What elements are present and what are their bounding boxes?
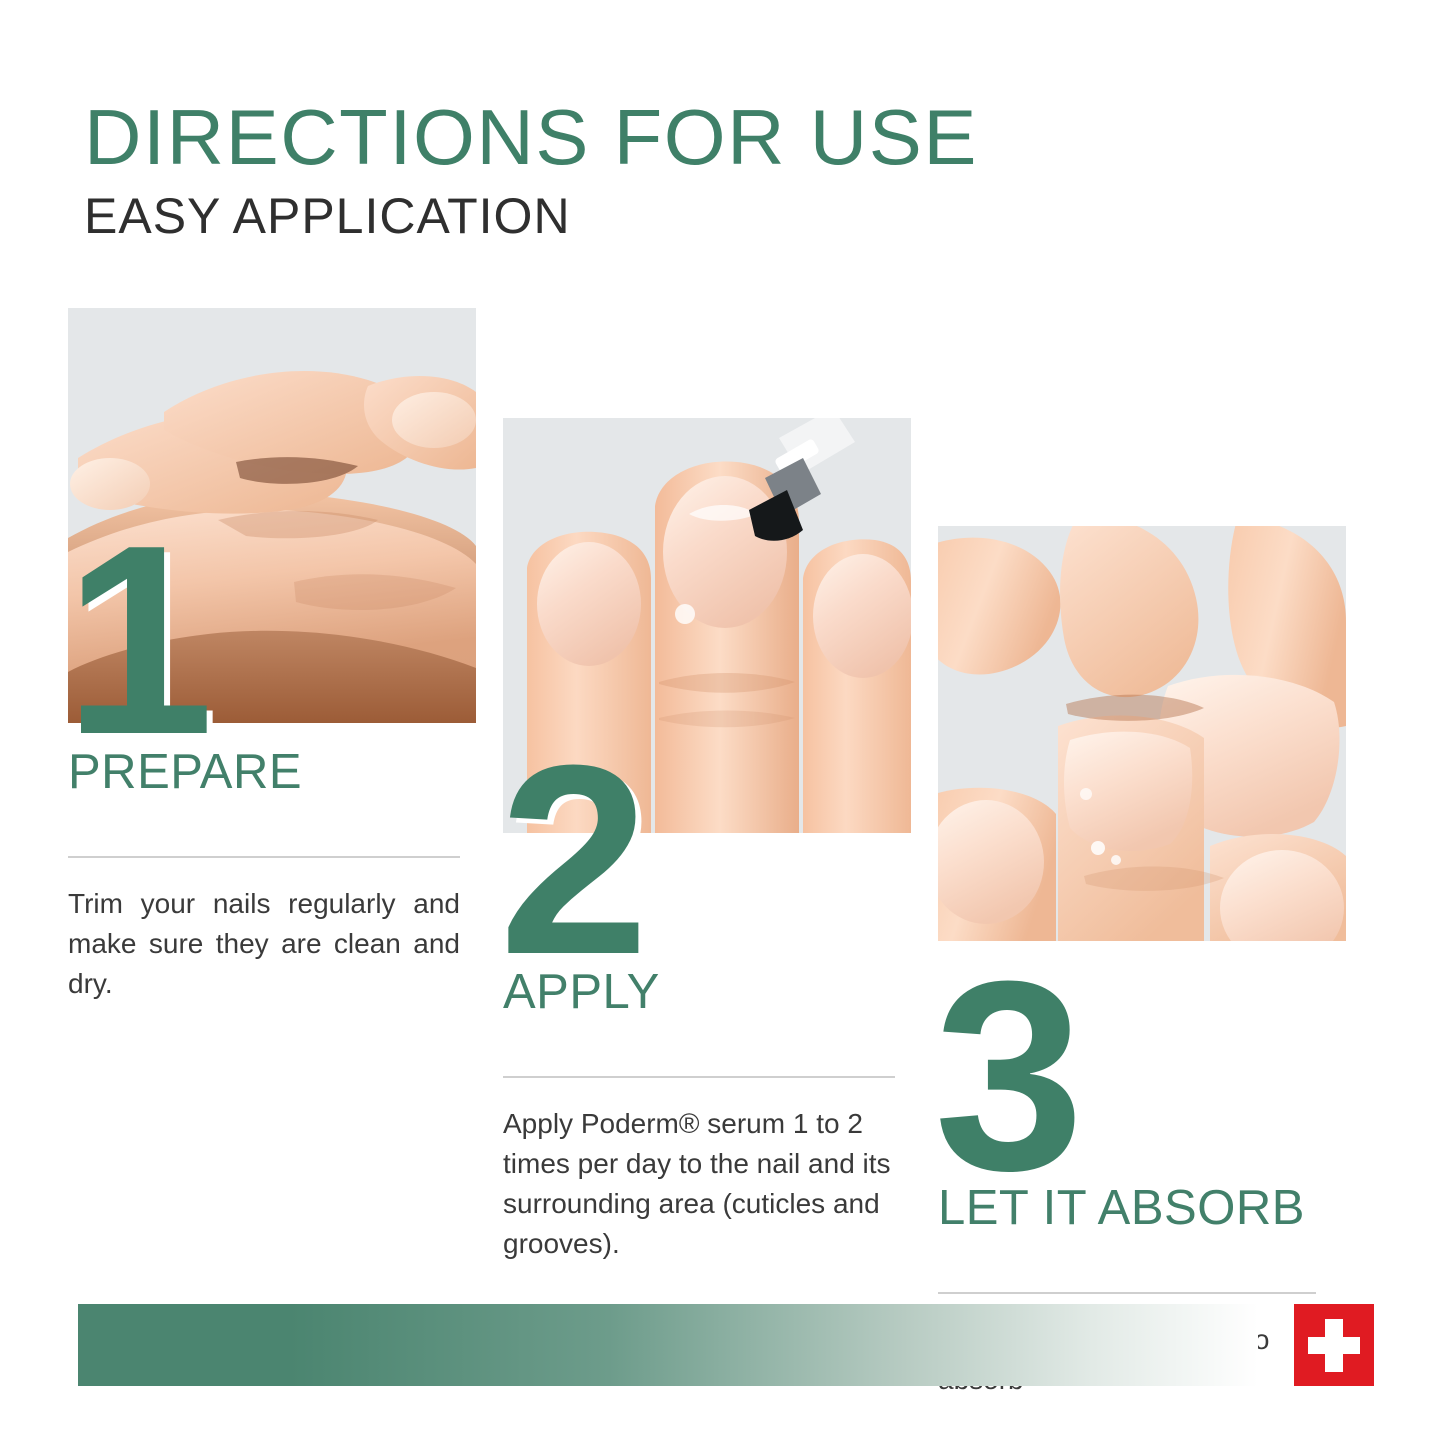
fingers-massaging-nail-illustration bbox=[938, 526, 1346, 941]
step-2-photo-wrap: 2 bbox=[503, 418, 911, 833]
step-1-body: Trim your nails regularly and make sure … bbox=[68, 884, 460, 1004]
swiss-cross-vertical bbox=[1325, 1319, 1343, 1372]
step-3-image bbox=[938, 526, 1346, 941]
step-2-divider bbox=[503, 1076, 895, 1078]
footer bbox=[0, 1300, 1445, 1392]
step-3-number: 3 bbox=[934, 962, 1084, 1192]
hand-holding-fingers-illustration bbox=[68, 308, 476, 723]
brush-applying-serum-illustration bbox=[503, 418, 911, 833]
step-3-photo-wrap: 3 bbox=[938, 526, 1346, 941]
swiss-cross-icon bbox=[1294, 1304, 1374, 1386]
step-1-divider bbox=[68, 856, 460, 858]
step-1-photo-wrap: 1 bbox=[68, 308, 476, 723]
step-card-1: 1 PREPARE Trim your nails regularly and … bbox=[68, 308, 460, 1004]
step-card-2: 2 APPLY Apply Poderm® serum 1 to 2 times… bbox=[503, 308, 895, 1264]
step-card-3: 3 LET IT ABSORB Massage gently or allow … bbox=[938, 308, 1330, 1400]
step-1-image bbox=[68, 308, 476, 723]
step-2-heading: APPLY bbox=[503, 965, 895, 1020]
header: DIRECTIONS FOR USE EASY APPLICATION bbox=[84, 96, 960, 244]
gradient-bar bbox=[78, 1304, 1258, 1386]
page-subtitle: EASY APPLICATION bbox=[84, 188, 960, 244]
step-3-divider bbox=[938, 1292, 1316, 1294]
step-2-body: Apply Poderm® serum 1 to 2 times per day… bbox=[503, 1104, 895, 1264]
step-2-image bbox=[503, 418, 911, 833]
step-3-heading: LET IT ABSORB bbox=[938, 1181, 1330, 1236]
page-title: DIRECTIONS FOR USE bbox=[84, 96, 978, 178]
step-1-heading: PREPARE bbox=[68, 745, 460, 800]
